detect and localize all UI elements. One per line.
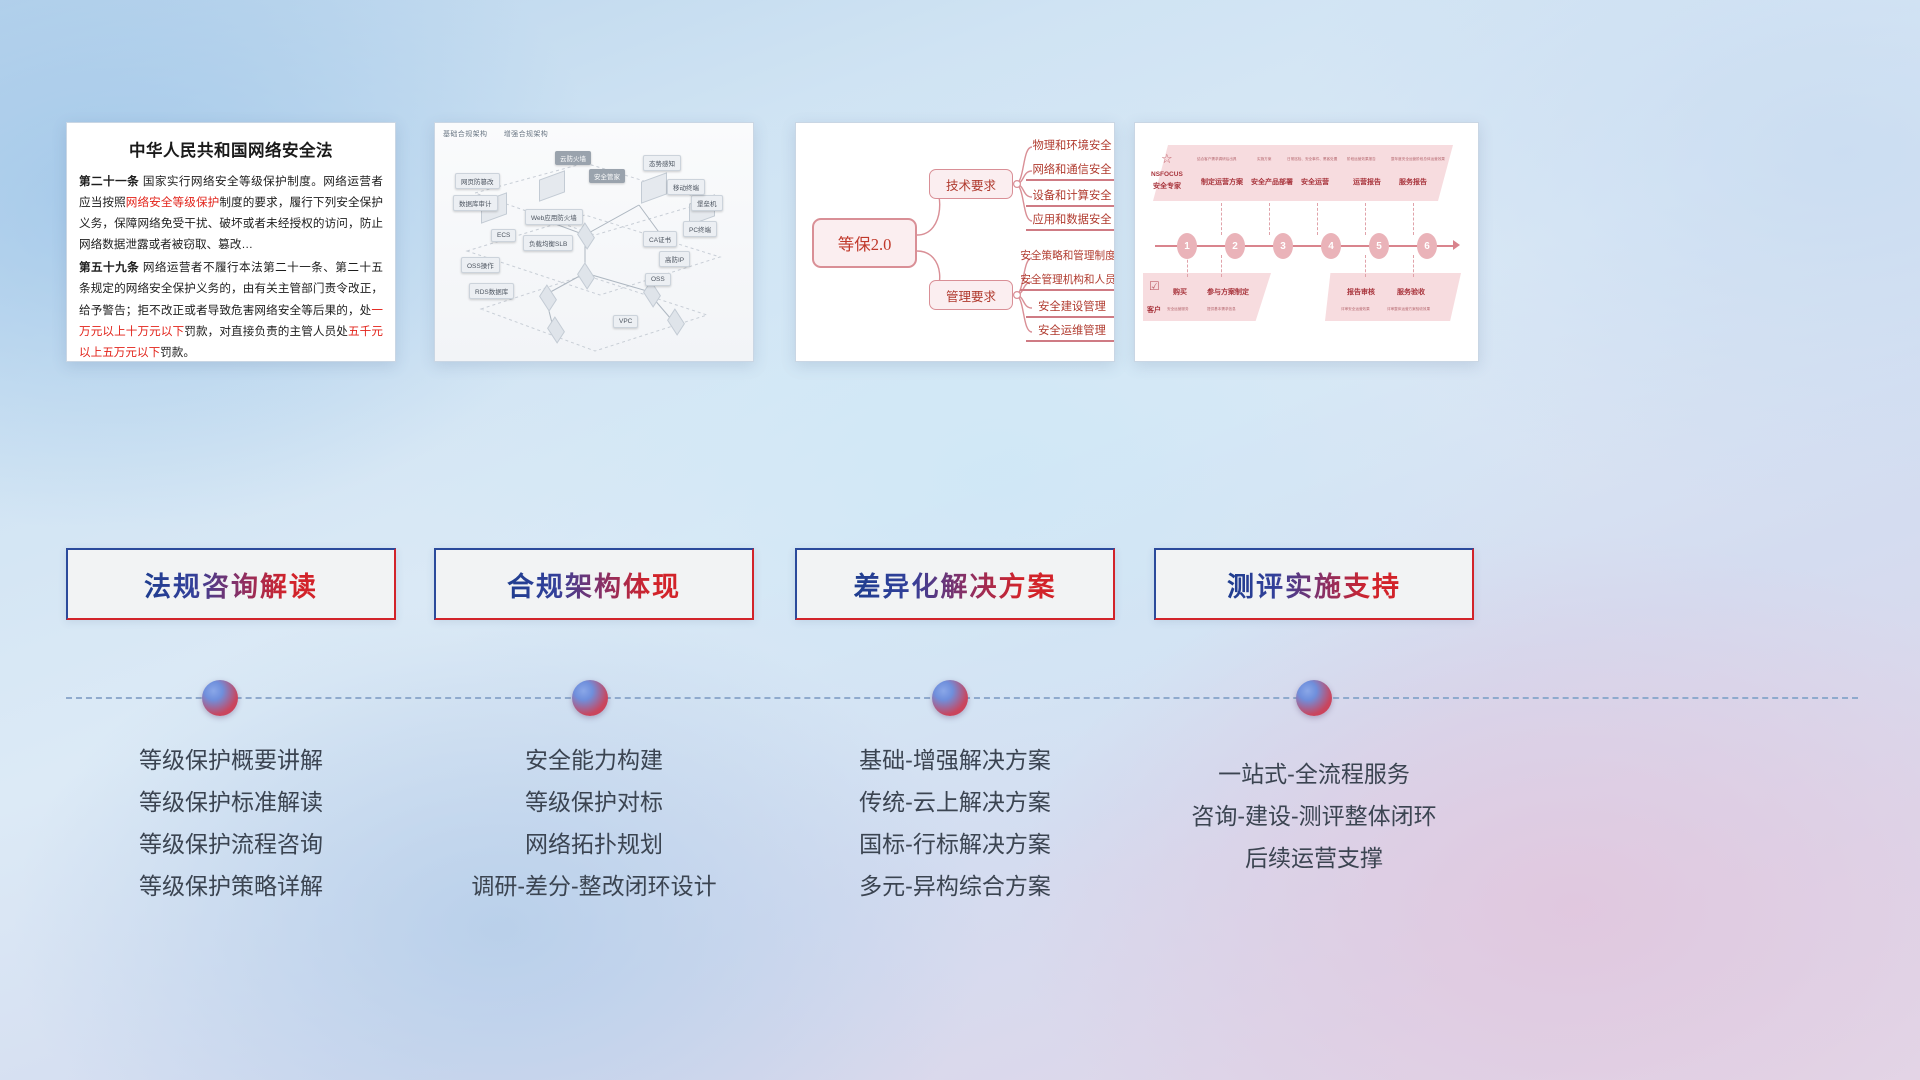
card-compliance-architecture: 基础合规架构 增强合规架构 — [434, 122, 754, 362]
timeline-marker-dot — [202, 680, 238, 716]
list-item: 调研-差分-整改闭环设计 — [434, 866, 754, 908]
mindmap-leaf: 设备和计算安全 — [1026, 187, 1115, 207]
timeline-bottom-label: 购买 — [1173, 287, 1187, 297]
architecture-chip-ecs: ECS — [491, 229, 516, 242]
card-cybersecurity-law: 中华人民共和国网络安全法 第二十一条 国家实行网络安全等级保护制度。网络运营者应… — [66, 122, 396, 362]
list-item: 咨询-建设-测评整体闭环 — [1154, 796, 1474, 838]
timeline-marker-dot — [1296, 680, 1332, 716]
timeline-node: 6 — [1417, 233, 1437, 259]
reference-cards-row: 中华人民共和国网络安全法 第二十一条 国家实行网络安全等级保护制度。网络运营者应… — [0, 122, 1920, 362]
list-item: 多元-异构综合方案 — [795, 866, 1115, 908]
timeline-top-caption: 阶段运营效果报告 — [1347, 157, 1376, 162]
section-title-label: 合规架构体现 — [507, 565, 681, 604]
timeline-top-label: 制定运营方案 — [1201, 177, 1243, 187]
timeline-bottom-caption: 评审安全运营效果 — [1341, 307, 1370, 312]
section-titles-row: 法规咨询解读 合规架构体现 差异化解决方案 测评实施支持 — [0, 548, 1920, 623]
list-item: 后续运营支撑 — [1154, 838, 1474, 880]
architecture-chip-mobile: 移动终端 — [667, 179, 705, 195]
list-item: 传统-云上解决方案 — [795, 782, 1115, 824]
timeline-node: 4 — [1321, 233, 1341, 259]
mindmap-leaf: 应用和数据安全 — [1026, 211, 1115, 231]
section-title-box-4[interactable]: 测评实施支持 — [1154, 548, 1474, 620]
timeline-connector — [1221, 203, 1222, 235]
timeline-marker-1[interactable] — [202, 680, 238, 716]
list-item: 安全能力构建 — [434, 740, 754, 782]
timeline-connector — [1221, 255, 1222, 277]
timeline-connector — [1413, 255, 1414, 277]
timeline-node: 2 — [1225, 233, 1245, 259]
mindmap-leaf: 物理和环境安全 — [1026, 137, 1115, 155]
list-item: 基础-增强解决方案 — [795, 740, 1115, 782]
list-item: 一站式-全流程服务 — [1154, 754, 1474, 796]
architecture-chip-manager: 安全管家 — [589, 169, 625, 183]
timeline-node: 3 — [1273, 233, 1293, 259]
mindmap-root: 等保2.0 — [812, 218, 917, 268]
architecture-chip-waf: Web应用防火墙 — [525, 209, 583, 225]
section-title-box-1[interactable]: 法规咨询解读 — [66, 548, 396, 620]
timeline-top-band — [1153, 145, 1453, 201]
mindmap-leaf: 安全策略和管理制度 — [1020, 248, 1115, 265]
section-title-box-3[interactable]: 差异化解决方案 — [795, 548, 1115, 620]
list-item: 等级保护概要讲解 — [66, 740, 396, 782]
architecture-connectors — [435, 123, 754, 362]
timeline-marker-dot — [932, 680, 968, 716]
timeline-node: 1 — [1177, 233, 1197, 259]
timeline-top-caption: 整年度安全运营阶段总体运营效果 — [1391, 157, 1445, 162]
list-item: 等级保护流程咨询 — [66, 824, 396, 866]
detail-list-3: 基础-增强解决方案 传统-云上解决方案 国标-行标解决方案 多元-异构综合方案 — [795, 740, 1115, 907]
architecture-chip-dbaudit: 数据库审计 — [453, 195, 498, 211]
timeline-bottom-caption: 安全运营服务 — [1167, 307, 1189, 312]
list-item: 网络拓扑规划 — [434, 824, 754, 866]
section-title-label: 差异化解决方案 — [854, 565, 1057, 604]
detail-list-4: 一站式-全流程服务 咨询-建设-测评整体闭环 后续运营支撑 — [1154, 754, 1474, 880]
timeline-top-label: 安全产品部署 — [1251, 177, 1293, 187]
law-article-21-label: 第二十一条 — [79, 175, 139, 188]
timeline-arrow-icon — [1453, 240, 1460, 250]
architecture-chip-situation: 态势感知 — [643, 155, 681, 171]
law-article-59-text-b: 罚款，对直接负责的主管人员处 — [184, 325, 348, 338]
timeline-connector — [1365, 255, 1366, 277]
law-article-59-text-c: 罚款。 — [160, 346, 195, 359]
architecture-chip-pc: PC终端 — [683, 221, 717, 237]
list-item: 国标-行标解决方案 — [795, 824, 1115, 866]
timeline-marker-4[interactable] — [1296, 680, 1332, 716]
mindmap-leaf: 网络和通信安全 — [1026, 161, 1115, 181]
section-title-label: 测评实施支持 — [1227, 565, 1401, 604]
mindmap: 等保2.0 技术要求 管理要求 物理和环境安全 网络和通信安全 设备和计算安全 … — [796, 123, 1114, 361]
timeline-connector — [1317, 203, 1318, 235]
architecture-chip-firewall: 云防火墙 — [555, 151, 591, 165]
architecture-chip-oss: OSS — [645, 273, 671, 286]
timeline-top-label: 运营报告 — [1353, 177, 1381, 187]
timeline-top-caption: 实施方案 — [1257, 157, 1271, 162]
architecture-chip-tamper: 网页防篡改 — [455, 173, 500, 189]
law-article-59: 第五十九条 网络运营者不履行本法第二十一条、第二十五条规定的网络安全保护义务的，… — [79, 257, 383, 362]
timeline-marker-3[interactable] — [932, 680, 968, 716]
timeline-axis — [1155, 245, 1455, 247]
nsfocus-timeline: ☆ NSFOCUS 安全专家 结合客户需求调研后出具 制定运营方案 实施方案 安… — [1135, 123, 1478, 361]
card-mindmap-mlps: 等保2.0 技术要求 管理要求 物理和环境安全 网络和通信安全 设备和计算安全 … — [795, 122, 1115, 362]
law-article-21-highlight: 网络安全等级保护 — [126, 196, 220, 209]
customer-role-label: 客户 — [1147, 305, 1161, 315]
list-item: 等级保护标准解读 — [66, 782, 396, 824]
architecture-chip-ca: CA证书 — [643, 231, 677, 247]
timeline-bottom-left-band — [1143, 273, 1271, 321]
expert-role-label: 安全专家 — [1153, 181, 1181, 191]
section-title-label: 法规咨询解读 — [144, 565, 318, 604]
law-article-59-label: 第五十九条 — [79, 261, 139, 274]
architecture-chip-rds: RDS数据库 — [469, 283, 514, 299]
timeline-marker-2[interactable] — [572, 680, 608, 716]
timeline-top-label: 服务报告 — [1399, 177, 1427, 187]
architecture-chip-vpc: VPC — [613, 315, 638, 328]
mindmap-branch-technical: 技术要求 — [929, 169, 1013, 199]
timeline-bottom-caption: 评审整体运营方案验收效果 — [1387, 307, 1430, 312]
law-body: 第二十一条 国家实行网络安全等级保护制度。网络运营者应当按照网络安全等级保护制度… — [67, 171, 395, 362]
detail-list-2: 安全能力构建 等级保护对标 网络拓扑规划 调研-差分-整改闭环设计 — [434, 740, 754, 907]
mindmap-branch-management: 管理要求 — [929, 280, 1013, 310]
architecture-chip-bastion: 堡垒机 — [691, 195, 723, 211]
timeline-connector — [1269, 203, 1270, 235]
mindmap-leaf: 安全管理机构和人员 — [1020, 272, 1115, 291]
list-item: 等级保护策略详解 — [66, 866, 396, 908]
architecture-diagram: 基础合规架构 增强合规架构 — [435, 123, 753, 361]
detail-list-1: 等级保护概要讲解 等级保护标准解读 等级保护流程咨询 等级保护策略详解 — [66, 740, 396, 907]
list-item: 等级保护对标 — [434, 782, 754, 824]
expert-brand-label: NSFOCUS — [1151, 171, 1183, 178]
timeline-connector — [1413, 203, 1414, 235]
timeline-top-caption: 结合客户需求调研后出具 — [1197, 157, 1237, 162]
timeline-top-label: 安全运营 — [1301, 177, 1329, 187]
mindmap-leaf: 安全运维管理 — [1026, 322, 1115, 342]
architecture-chip-slb: 负载均衡SLB — [523, 235, 573, 251]
card-service-timeline: ☆ NSFOCUS 安全专家 结合客户需求调研后出具 制定运营方案 实施方案 安… — [1134, 122, 1479, 362]
timeline-bottom-caption: 提供基本需求信息 — [1207, 307, 1236, 312]
section-title-box-2[interactable]: 合规架构体现 — [434, 548, 754, 620]
architecture-chip-anti-ddos: 高防IP — [659, 251, 690, 267]
timeline-bottom-label: 报告审核 — [1347, 287, 1375, 297]
mindmap-leaf: 安全建设管理 — [1026, 298, 1115, 318]
architecture-chip-oss-op: OSS操作 — [461, 257, 500, 273]
timeline-bottom-label: 参与方案制定 — [1207, 287, 1249, 297]
timeline-top-caption: 日常巡检、安全事件、黑客处置 — [1287, 157, 1337, 162]
timeline-bottom-label: 服务验收 — [1397, 287, 1425, 297]
law-title: 中华人民共和国网络安全法 — [67, 123, 395, 171]
customer-avatar-icon: ☑ — [1149, 279, 1160, 293]
timeline-bottom-right-band — [1325, 273, 1461, 321]
timeline-marker-dot — [572, 680, 608, 716]
law-article-21: 第二十一条 国家实行网络安全等级保护制度。网络运营者应当按照网络安全等级保护制度… — [79, 171, 383, 255]
expert-avatar-icon: ☆ — [1161, 151, 1173, 167]
timeline-connector — [1365, 203, 1366, 235]
timeline-node: 5 — [1369, 233, 1389, 259]
